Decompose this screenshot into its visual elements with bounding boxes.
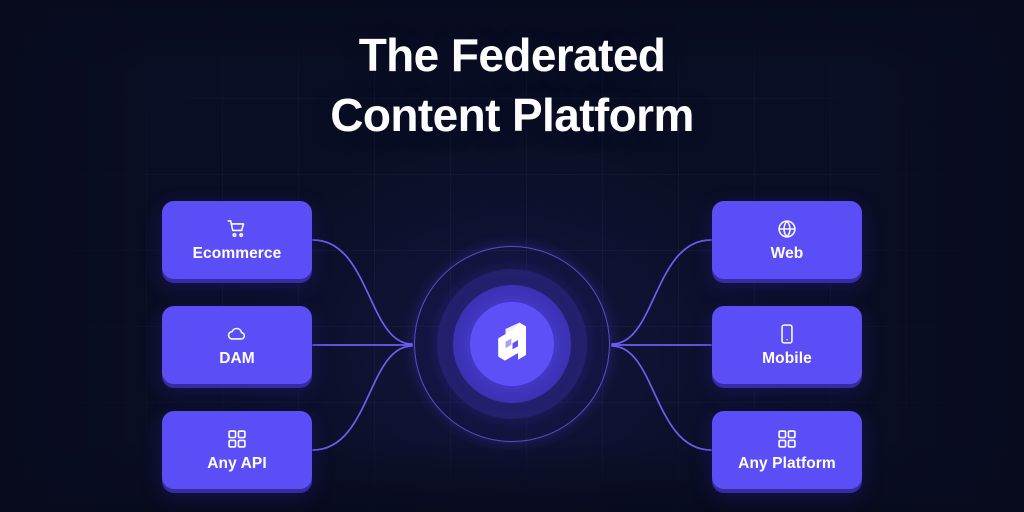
node-card-dam[interactable]: DAM (162, 306, 312, 384)
page-title-line-2: Content Platform (0, 86, 1024, 146)
node-card-label: Any API (207, 456, 267, 472)
diagram-stage: The Federated Content Platform (0, 0, 1024, 512)
page-title-line-1: The Federated (359, 29, 666, 81)
grid-squares-icon (226, 428, 248, 450)
grid-squares-icon (776, 428, 798, 450)
hub-core (470, 302, 554, 386)
node-card-label: Ecommerce (193, 246, 282, 262)
page-title: The Federated Content Platform (0, 26, 1024, 146)
node-card-ecommerce[interactable]: Ecommerce (162, 201, 312, 279)
cloud-icon (226, 323, 248, 345)
node-card-label: DAM (219, 351, 255, 367)
connector-web (612, 240, 711, 344)
mobile-phone-icon (776, 323, 798, 345)
node-card-label: Mobile (762, 351, 812, 367)
connector-any-api (313, 346, 412, 450)
node-card-label: Any Platform (738, 456, 836, 472)
globe-icon (776, 218, 798, 240)
node-card-label: Web (771, 246, 804, 262)
central-platform-hub[interactable] (410, 242, 614, 446)
shopping-cart-icon (226, 218, 248, 240)
connector-ecommerce (313, 240, 412, 344)
node-card-any-platform[interactable]: Any Platform (712, 411, 862, 489)
node-card-web[interactable]: Web (712, 201, 862, 279)
connector-any-platform (612, 346, 711, 450)
platform-logo-mark (491, 320, 533, 368)
node-card-any-api[interactable]: Any API (162, 411, 312, 489)
node-card-mobile[interactable]: Mobile (712, 306, 862, 384)
